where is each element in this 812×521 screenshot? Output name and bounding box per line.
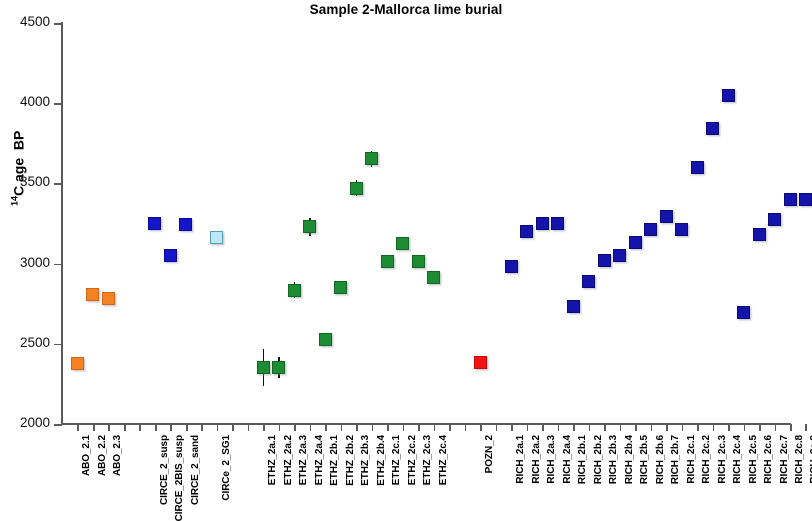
data-point-marker[interactable] [753, 228, 766, 241]
data-point-marker[interactable] [551, 217, 564, 230]
y-tick-label: 3000 [5, 255, 50, 270]
x-tick-label: CIRCe_2_SG1 [221, 435, 232, 501]
data-point-marker[interactable] [86, 288, 99, 301]
x-tick [341, 424, 343, 431]
x-tick [294, 424, 296, 431]
x-tick [186, 424, 188, 431]
data-point-marker[interactable] [536, 217, 549, 230]
data-point-marker[interactable] [179, 218, 192, 231]
y-tick [54, 23, 62, 25]
x-tick [790, 424, 792, 431]
x-tick-label: RICH_2c.5 [748, 435, 759, 484]
data-point-marker[interactable] [288, 284, 301, 297]
x-tick-label: RICH_2b.1 [577, 435, 588, 484]
x-tick-label: POZN_2 [484, 435, 495, 473]
x-tick-label: RICH_2b.2 [593, 435, 604, 484]
x-tick-label: ETHZ_2a.4 [314, 435, 325, 485]
data-point-marker[interactable] [365, 152, 378, 165]
y-axis-label: 14C age BP [10, 88, 27, 248]
data-point-marker[interactable] [102, 292, 115, 305]
data-point-marker[interactable] [784, 193, 797, 206]
x-tick [573, 424, 575, 431]
x-tick-label: RICH_2b.4 [624, 435, 635, 484]
data-point-marker[interactable] [644, 223, 657, 236]
x-tick [775, 424, 777, 431]
x-tick-label: ETHZ_2a.1 [267, 435, 278, 485]
y-tick-label: 4000 [5, 94, 50, 109]
data-point-marker[interactable] [706, 122, 719, 135]
x-tick [728, 424, 730, 431]
data-point-marker[interactable] [598, 254, 611, 267]
y-tick [54, 183, 62, 185]
y-tick [54, 424, 62, 426]
x-tick [418, 424, 420, 431]
y-tick-label: 3500 [5, 174, 50, 189]
chart-figure: Sample 2-Mallorca lime burial 14C age BP… [0, 0, 812, 519]
x-tick [744, 424, 746, 431]
x-tick [310, 424, 312, 431]
data-point-marker[interactable] [474, 356, 487, 369]
x-tick [449, 424, 451, 431]
x-tick-label: RICH_2a.3 [546, 435, 557, 484]
x-tick [713, 424, 715, 431]
x-tick [496, 424, 498, 431]
x-tick-label: CIRCE_2BIS_susp [174, 435, 185, 521]
y-tick-label: 4500 [5, 14, 50, 29]
x-tick [620, 424, 622, 431]
x-tick-label: ETHZ_2a.2 [283, 435, 294, 485]
y-tick [54, 344, 62, 346]
data-point-marker[interactable] [412, 255, 425, 268]
x-tick-label: RICH_2b.5 [639, 435, 650, 484]
x-tick [232, 424, 234, 431]
x-tick [356, 424, 358, 431]
x-tick [248, 424, 250, 431]
x-tick [372, 424, 374, 431]
data-point-marker[interactable] [660, 210, 673, 223]
x-tick-label: RICH_2b.7 [670, 435, 681, 484]
x-tick-label: RICH_2c.8 [794, 435, 805, 484]
x-tick-label: ABO_2.1 [81, 435, 92, 476]
x-tick-label: ETHZ_2c.3 [422, 435, 433, 485]
x-tick [155, 424, 157, 431]
data-point-marker[interactable] [629, 236, 642, 249]
x-tick [387, 424, 389, 431]
x-tick [108, 424, 110, 431]
x-tick [170, 424, 172, 431]
x-tick [263, 424, 265, 431]
x-tick [93, 424, 95, 431]
x-tick-label: ETHZ_2c.2 [407, 435, 418, 485]
x-tick-label: CIRCE_2_susp [159, 435, 170, 505]
x-tick [651, 424, 653, 431]
x-tick [217, 424, 219, 431]
x-tick-label: ABO_2.2 [97, 435, 108, 476]
x-tick-label: RICH_2c.2 [701, 435, 712, 484]
x-tick [558, 424, 560, 431]
data-point-marker[interactable] [319, 333, 332, 346]
data-point-marker[interactable] [799, 193, 812, 206]
x-tick [527, 424, 529, 431]
data-point-marker[interactable] [505, 260, 518, 273]
x-tick-label: CIRCE_2_sand [190, 435, 201, 505]
x-tick [139, 424, 141, 431]
x-tick-label: ETHZ_2b.2 [345, 435, 356, 486]
chart-title: Sample 2-Mallorca lime burial [0, 2, 812, 17]
x-tick-label: RICH_2c.3 [717, 435, 728, 484]
data-point-marker[interactable] [381, 255, 394, 268]
x-tick-label: RICH_2b.3 [608, 435, 619, 484]
x-tick-label: RICH_2a.1 [515, 435, 526, 484]
data-point-marker[interactable] [164, 249, 177, 262]
x-tick [403, 424, 405, 431]
x-tick [697, 424, 699, 431]
x-tick [77, 424, 79, 431]
data-point-marker[interactable] [582, 275, 595, 288]
y-tick-label: 2000 [5, 415, 50, 430]
data-point-marker[interactable] [71, 357, 84, 370]
data-point-marker[interactable] [350, 182, 363, 195]
x-tick-label: RICH_2c.7 [779, 435, 790, 484]
data-point-marker[interactable] [257, 361, 270, 374]
data-point-marker[interactable] [691, 161, 704, 174]
data-point-marker[interactable] [334, 281, 347, 294]
x-tick-label: RICH_2c.6 [763, 435, 774, 484]
x-tick [759, 424, 761, 431]
x-tick [124, 424, 126, 431]
data-point-marker[interactable] [675, 223, 688, 236]
plot-area: 200025003000350040004500 ABO_2.1ABO_2.2A… [62, 23, 790, 424]
x-tick [666, 424, 668, 431]
x-tick-label: ETHZ_2c.4 [438, 435, 449, 485]
x-tick [201, 424, 203, 431]
x-tick [635, 424, 637, 431]
x-tick [604, 424, 606, 431]
x-tick [279, 424, 281, 431]
data-point-marker[interactable] [567, 300, 580, 313]
x-tick-label: ETHZ_2c.1 [391, 435, 402, 485]
x-tick [542, 424, 544, 431]
x-tick-label: ETHZ_2b.3 [360, 435, 371, 486]
x-tick [682, 424, 684, 431]
data-point-marker[interactable] [768, 213, 781, 226]
x-tick-label: RICH_2b.6 [655, 435, 666, 484]
y-tick [54, 103, 62, 105]
data-point-marker[interactable] [427, 271, 440, 284]
x-tick-label: RICH_2a.4 [562, 435, 573, 484]
data-point-marker[interactable] [613, 249, 626, 262]
x-tick [434, 424, 436, 431]
data-point-marker[interactable] [303, 220, 316, 233]
y-tick [54, 264, 62, 266]
x-tick-label: RICH_2a.2 [531, 435, 542, 484]
x-tick [465, 424, 467, 431]
x-tick [325, 424, 327, 431]
x-tick-label: RICH_2c.4 [732, 435, 743, 484]
data-point-marker[interactable] [148, 217, 161, 230]
data-point-marker[interactable] [722, 89, 735, 102]
x-tick [805, 424, 807, 431]
x-tick [589, 424, 591, 431]
x-tick-label: ETHZ_2b.4 [376, 435, 387, 486]
data-point-marker[interactable] [210, 231, 223, 244]
y-tick-label: 2500 [5, 335, 50, 350]
x-tick-label: ETHZ_2b.1 [329, 435, 340, 486]
data-point-marker[interactable] [396, 237, 409, 250]
x-tick-label: ETHZ_2a.3 [298, 435, 309, 485]
data-point-marker[interactable] [737, 306, 750, 319]
x-tick [480, 424, 482, 431]
x-tick-label: RICH_2c.1 [686, 435, 697, 484]
data-point-marker[interactable] [272, 361, 285, 374]
data-point-marker[interactable] [520, 225, 533, 238]
x-tick [511, 424, 513, 431]
x-tick-label: ABO_2.3 [112, 435, 123, 476]
